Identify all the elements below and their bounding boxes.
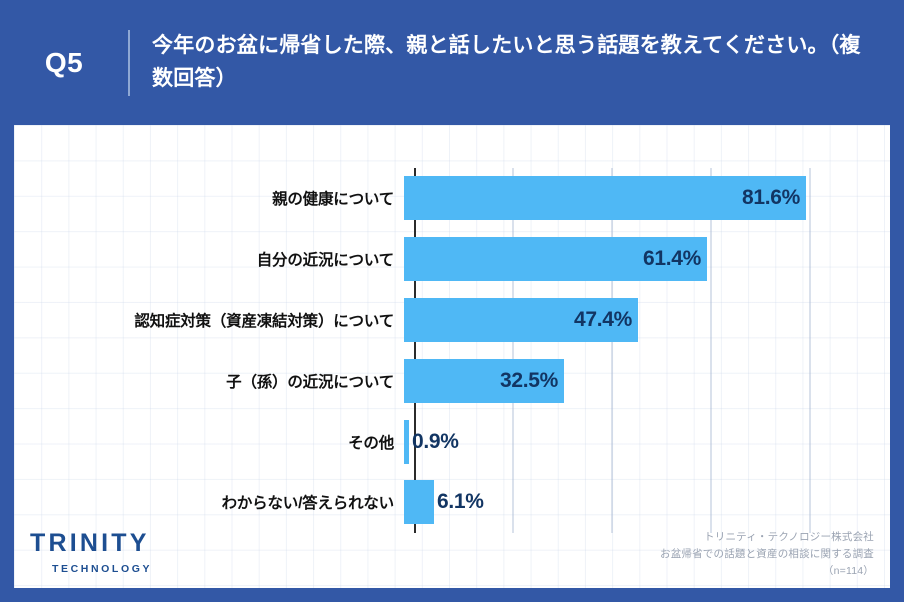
bar-track: 47.4% bbox=[404, 290, 890, 351]
category-label: 子（孫）の近況について bbox=[14, 370, 404, 392]
bar-value-label: 61.4% bbox=[643, 247, 701, 271]
bar: 47.4% bbox=[404, 298, 638, 342]
bar-value-label: 47.4% bbox=[574, 308, 632, 332]
bar-value-label: 6.1% bbox=[437, 490, 484, 514]
bar-chart: 親の健康について 81.6% 自分の近況について 61.4% bbox=[14, 125, 890, 588]
chart-row: その他 0.9% bbox=[14, 411, 890, 472]
bar: 81.6% bbox=[404, 176, 806, 220]
bar-track: 0.9% bbox=[404, 411, 890, 472]
category-label: 認知症対策（資産凍結対策）について bbox=[14, 309, 404, 331]
chart-row: わからない/答えられない 6.1% bbox=[14, 472, 890, 533]
chart-row: 親の健康について 81.6% bbox=[14, 168, 890, 229]
chart-row: 認知症対策（資産凍結対策）について 47.4% bbox=[14, 290, 890, 351]
logo-tagline: TECHNOLOGY bbox=[30, 563, 230, 575]
bar-value-label: 32.5% bbox=[500, 369, 558, 393]
logo-wordmark: TRINITY bbox=[30, 529, 230, 558]
credit-company: トリニティ・テクノロジー株式会社 bbox=[660, 529, 874, 546]
bar-rows: 親の健康について 81.6% 自分の近況について 61.4% bbox=[14, 168, 890, 533]
bar-track: 81.6% bbox=[404, 168, 890, 229]
bar-track: 61.4% bbox=[404, 229, 890, 290]
slide-root: Q5 今年のお盆に帰省した際、親と話したいと思う話題を教えてください。（複数回答… bbox=[0, 0, 904, 602]
bar: 6.1% bbox=[404, 480, 434, 524]
credit-sample-size: （n=114） bbox=[660, 563, 874, 580]
trinity-logo: TRINITY TECHNOLOGY bbox=[30, 529, 230, 575]
category-label: 自分の近況について bbox=[14, 248, 404, 270]
credit-survey: お盆帰省での話題と資産の相談に関する調査 bbox=[660, 546, 874, 563]
question-number: Q5 bbox=[0, 47, 128, 79]
chart-card: 親の健康について 81.6% 自分の近況について 61.4% bbox=[14, 125, 890, 588]
bar: 32.5% bbox=[404, 359, 564, 403]
chart-row: 自分の近況について 61.4% bbox=[14, 229, 890, 290]
bar-value-label: 0.9% bbox=[412, 430, 459, 454]
bar: 61.4% bbox=[404, 237, 707, 281]
category-label: 親の健康について bbox=[14, 187, 404, 209]
chart-row: 子（孫）の近況について 32.5% bbox=[14, 350, 890, 411]
bar-track: 32.5% bbox=[404, 350, 890, 411]
category-label: その他 bbox=[14, 431, 404, 453]
bar: 0.9% bbox=[404, 420, 409, 464]
question-header: Q5 今年のお盆に帰省した際、親と話したいと思う話題を教えてください。（複数回答… bbox=[0, 0, 904, 125]
category-label: わからない/答えられない bbox=[14, 491, 404, 513]
credit-block: トリニティ・テクノロジー株式会社 お盆帰省での話題と資産の相談に関する調査 （n… bbox=[660, 529, 874, 580]
question-title: 今年のお盆に帰省した際、親と話したいと思う話題を教えてください。（複数回答） bbox=[130, 30, 904, 95]
bar-track: 6.1% bbox=[404, 472, 890, 533]
bar-value-label: 81.6% bbox=[742, 186, 800, 210]
